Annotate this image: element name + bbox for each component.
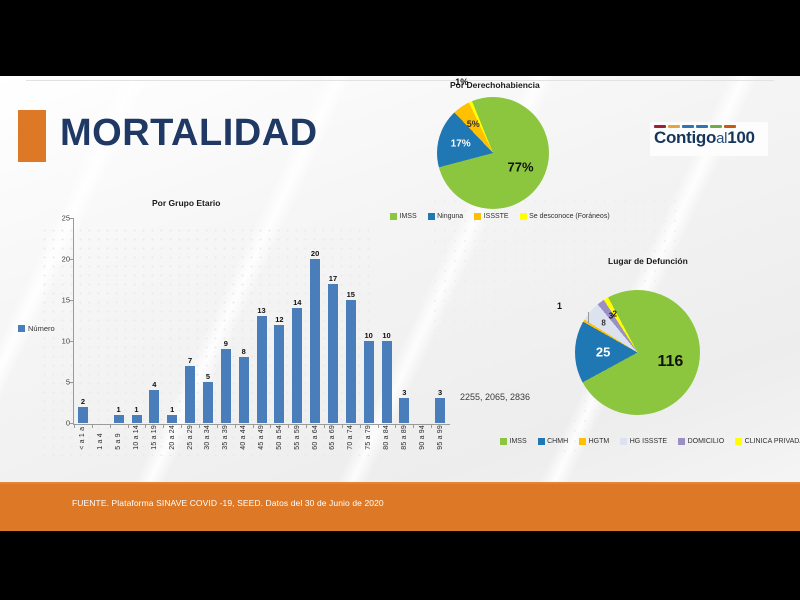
legend-swatch (428, 213, 435, 220)
title-accent-bar (18, 110, 46, 162)
bar: 5 (203, 382, 213, 423)
bar: 2 (78, 407, 88, 423)
bar: 17 (328, 284, 338, 423)
bar-value-label: 14 (293, 298, 301, 307)
bar-value-label: 1 (117, 405, 121, 414)
legend-swatch (538, 438, 545, 445)
legend-label: ISSSTE (484, 213, 509, 220)
bar-column (413, 218, 431, 423)
x-tick-label: 10 a 14 (133, 425, 140, 450)
legend-item[interactable]: IMSS (390, 213, 417, 220)
x-tick-label: 85 a 89 (401, 425, 408, 450)
pie-slice-value-label: 17% (451, 138, 471, 149)
bar-value-label: 9 (224, 339, 228, 348)
bar: 14 (292, 308, 302, 423)
bar: 1 (132, 415, 142, 423)
bar-value-label: 3 (402, 388, 406, 397)
x-tick-label: 70 a 74 (347, 425, 354, 450)
x-tick-cell: 80 a 84 (378, 425, 396, 450)
slide-stage: MORTALIDAD Contigoal100 Por Grupo Etario… (0, 0, 800, 600)
page-title: MORTALIDAD (60, 112, 318, 155)
x-tick-cell: 35 a 39 (217, 425, 235, 450)
legend-item[interactable]: DOMICILIO (678, 438, 724, 445)
bar-chart-title: Por Grupo Etario (152, 198, 220, 208)
bar-value-label: 17 (329, 274, 337, 283)
legend-item[interactable]: HGTM (579, 438, 609, 445)
bar-value-label: 1 (170, 405, 174, 414)
bar-value-label: 5 (206, 372, 210, 381)
bar: 4 (149, 390, 159, 423)
bar-column: 1 (128, 218, 146, 423)
bar-column: 10 (378, 218, 396, 423)
pie-chart-lugar-de-defuncion: Lugar de Defunción 116251832 IMSSCHMHHGT… (500, 256, 800, 471)
bar-column: 2 (74, 218, 92, 423)
legend-item[interactable]: ISSSTE (474, 213, 508, 220)
bar-column: 10 (360, 218, 378, 423)
bar-column: 12 (270, 218, 288, 423)
bar-column: 15 (342, 218, 360, 423)
logo-text: Contigoal100 (654, 129, 768, 146)
bar: 3 (399, 398, 409, 423)
legend-item[interactable]: Se desconoce (Foráneos) (520, 213, 610, 220)
y-tick-label: 25 (62, 214, 70, 223)
legend-label: IMSS (510, 438, 527, 445)
legend-item[interactable]: HG ISSSTE (620, 438, 667, 445)
legend-label: DOMICILIO (688, 438, 725, 445)
bar-column: 20 (306, 218, 324, 423)
x-tick-cell: 85 a 89 (395, 425, 413, 450)
legend-label: Se desconoce (Foráneos) (529, 213, 610, 220)
x-tick-cell: 60 a 64 (306, 425, 324, 450)
x-tick-label: 35 a 39 (222, 425, 229, 450)
x-tick-label: 55 a 59 (294, 425, 301, 450)
legend-item[interactable]: Ninguna (428, 213, 464, 220)
x-tick-cell: 15 a 19 (145, 425, 163, 450)
pie-slice-value-label: 77% (508, 159, 534, 174)
bar-column: 3 (431, 218, 449, 423)
bar-column: 14 (288, 218, 306, 423)
x-tick-cell: < a 1 a (74, 425, 92, 450)
bar-chart-x-tick-labels: < a 1 a1 a 45 a 910 a 1415 a 1920 a 2425… (74, 425, 449, 450)
x-tick-label: 75 a 79 (365, 425, 372, 450)
bar-column: 7 (181, 218, 199, 423)
logo-text-thin: al (716, 130, 727, 147)
bar-value-label: 8 (242, 347, 246, 356)
legend-swatch (620, 438, 627, 445)
footer-source-text: FUENTE. Plataforma SINAVE COVID -19, SEE… (72, 498, 384, 508)
bar-value-label: 15 (347, 290, 355, 299)
legend-swatch (579, 438, 586, 445)
bar: 7 (185, 366, 195, 423)
legend-label: CLINICA PRIVADA (745, 438, 800, 445)
x-tick-label: 90 a 94 (419, 425, 426, 450)
bar-value-label: 2 (81, 397, 85, 406)
bar-value-label: 13 (257, 306, 265, 315)
x-tick-label: 1 a 4 (97, 425, 104, 450)
bar-column: 8 (235, 218, 253, 423)
x-tick-label: 5 a 9 (115, 425, 122, 450)
x-tick-label: 45 a 49 (258, 425, 265, 450)
bar-value-label: 10 (365, 331, 373, 340)
x-tick-cell: 90 a 94 (413, 425, 431, 450)
bar-value-label: 12 (275, 315, 283, 324)
logo-text-num: 100 (727, 128, 754, 147)
x-tick-cell: 20 a 24 (163, 425, 181, 450)
x-tick-label: 50 a 54 (276, 425, 283, 450)
y-tick-label: 10 (62, 337, 70, 346)
logo-text-main: Contigo (654, 128, 716, 147)
bar-chart-por-grupo-etario: Por Grupo Etario 0510152025 211417598131… (22, 196, 462, 516)
legend-item[interactable]: CHMH (538, 438, 569, 445)
x-tick-label: 60 a 64 (312, 425, 319, 450)
legend-swatch-numero (18, 325, 25, 332)
bar: 3 (435, 398, 445, 423)
bar-value-label: 1 (134, 405, 138, 414)
pie1-graphic (437, 97, 549, 209)
bar-column (92, 218, 110, 423)
bar: 8 (239, 357, 249, 423)
bar: 15 (346, 300, 356, 423)
bar: 9 (221, 349, 231, 423)
y-tick-label: 20 (62, 255, 70, 264)
bar-column: 5 (199, 218, 217, 423)
pie-leader-line (588, 312, 589, 323)
x-tick-cell: 65 a 69 (324, 425, 342, 450)
x-tick-cell: 50 a 54 (270, 425, 288, 450)
legend-item[interactable]: CLINICA PRIVADA (735, 438, 800, 445)
logo-contigo-al-100: Contigoal100 (650, 122, 768, 156)
pie2-legend: IMSSCHMHHGTMHG ISSSTEDOMICILIOCLINICA PR… (500, 438, 800, 445)
x-tick-cell: 40 a 44 (235, 425, 253, 450)
pie-slice-value-label: 5% (467, 119, 480, 129)
pie-slice-value-label: 2 (613, 309, 617, 318)
legend-swatch (735, 438, 742, 445)
bar-column: 1 (163, 218, 181, 423)
legend-label: Ninguna (437, 213, 463, 220)
bar-column: 1 (110, 218, 128, 423)
legend-label: HGTM (589, 438, 610, 445)
x-tick-label: 15 a 19 (151, 425, 158, 450)
bar-chart-bars: 211417598131214201715101033 (74, 218, 449, 423)
x-tick-label: < a 1 a (79, 425, 86, 450)
legend-swatch (390, 213, 397, 220)
bar: 1 (114, 415, 124, 423)
pie-slice-value-label: 25 (596, 345, 610, 360)
bar-chart-legend: Número (18, 324, 55, 333)
x-tick-label: 80 a 84 (383, 425, 390, 450)
legend-item[interactable]: IMSS (500, 438, 527, 445)
bar: 1 (167, 415, 177, 423)
pie1-legend: IMSSNingunaISSSTESe desconoce (Foráneos) (390, 213, 617, 220)
bar-column: 17 (324, 218, 342, 423)
pie-slice-value-label: 1% (455, 77, 468, 87)
x-tick-cell: 75 a 79 (360, 425, 378, 450)
legend-label-numero: Número (28, 324, 55, 333)
bar-value-label: 7 (188, 356, 192, 365)
x-tick-cell: 30 a 34 (199, 425, 217, 450)
legend-label: CHMH (547, 438, 568, 445)
bar-value-label: 4 (152, 380, 156, 389)
bar: 10 (382, 341, 392, 423)
bar: 12 (274, 325, 284, 423)
bar-column: 13 (253, 218, 271, 423)
x-tick-cell: 95 a 99 (431, 425, 449, 450)
bar: 13 (257, 316, 267, 423)
bar-value-label: 10 (382, 331, 390, 340)
bar-column: 9 (217, 218, 235, 423)
pie-slice-value-label: 116 (658, 353, 684, 371)
x-tick-label: 30 a 34 (204, 425, 211, 450)
x-tick-cell: 1 a 4 (92, 425, 110, 450)
pie2-title: Lugar de Defunción (608, 256, 688, 266)
legend-label: IMSS (400, 213, 417, 220)
legend-label: HG ISSSTE (630, 438, 667, 445)
legend-swatch (520, 213, 527, 220)
pie-chart-por-derechohabiencia: Por Derechohabiencia 77%17%5%1% IMSSNing… (395, 80, 635, 230)
pie-slice-value-label: 1 (557, 301, 562, 311)
bar-chart-plot-area: 0510152025 211417598131214201715101033 (74, 218, 449, 423)
legend-swatch (678, 438, 685, 445)
x-tick-label: 25 a 29 (187, 425, 194, 450)
bar-column: 3 (395, 218, 413, 423)
legend-swatch (500, 438, 507, 445)
x-tick-cell: 25 a 29 (181, 425, 199, 450)
x-tick-cell: 10 a 14 (128, 425, 146, 450)
x-tick-label: 95 a 99 (437, 425, 444, 450)
bar-value-label: 3 (438, 388, 442, 397)
y-tick-label: 15 (62, 296, 70, 305)
x-tick-label: 40 a 44 (240, 425, 247, 450)
x-tick-cell: 70 a 74 (342, 425, 360, 450)
x-tick-cell: 5 a 9 (110, 425, 128, 450)
x-tick-label: 20 a 24 (169, 425, 176, 450)
x-tick-label: 65 a 69 (329, 425, 336, 450)
bar-value-label: 20 (311, 249, 319, 258)
x-tick-cell: 55 a 59 (288, 425, 306, 450)
bar: 20 (310, 259, 320, 423)
bar-column: 4 (145, 218, 163, 423)
x-tick-cell: 45 a 49 (253, 425, 271, 450)
presentation-slide: MORTALIDAD Contigoal100 Por Grupo Etario… (0, 76, 800, 531)
legend-swatch (474, 213, 481, 220)
bar: 10 (364, 341, 374, 423)
pie-slice-value-label: 8 (601, 318, 605, 327)
